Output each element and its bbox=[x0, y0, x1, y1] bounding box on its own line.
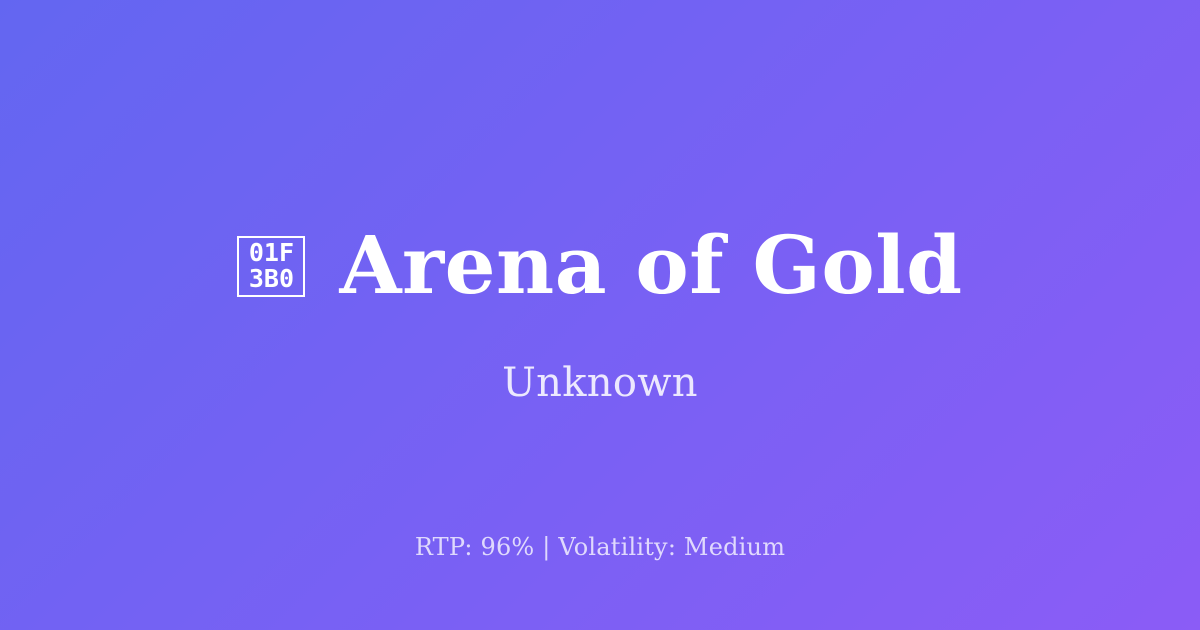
game-title: Arena of Gold bbox=[339, 225, 962, 307]
tofu-hex-row-bottom: 3B0 bbox=[249, 266, 294, 293]
game-preview-card: 01F 3B0 Arena of Gold Unknown RTP: 96% |… bbox=[0, 0, 1200, 630]
slot-machine-tofu-icon: 01F 3B0 bbox=[237, 236, 305, 297]
hero-heading-row: 01F 3B0 Arena of Gold bbox=[237, 225, 962, 307]
tofu-hex-row-top: 01F bbox=[249, 240, 294, 267]
game-provider-subtitle: Unknown bbox=[502, 361, 698, 405]
game-meta-stats: RTP: 96% | Volatility: Medium bbox=[0, 533, 1200, 562]
